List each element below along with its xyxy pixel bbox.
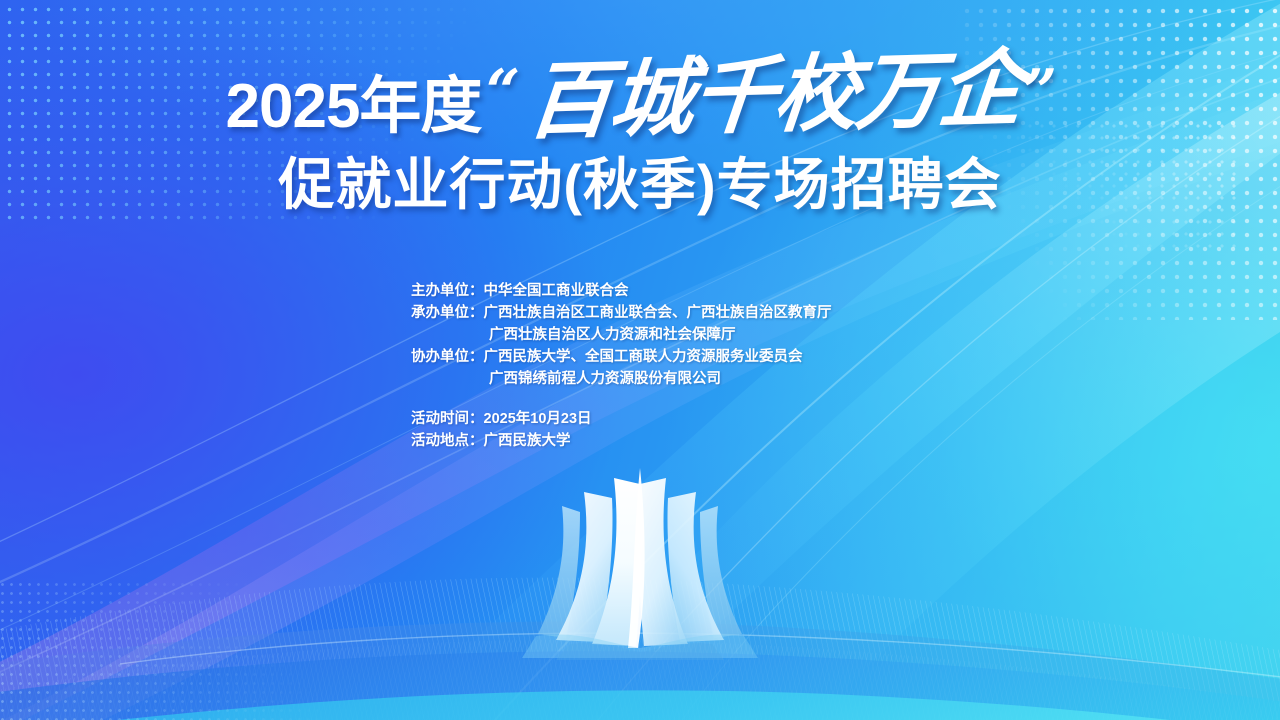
info-row-coorganizer: 协办单位：广西民族大学、全国工商联人力资源服务业委员会 [411,346,832,368]
coorganizer-value-line2: 广西锦绣前程人力资源股份有限公司 [489,371,721,387]
title-brush-phrase: 百城千校万企 [524,48,1025,142]
event-info-block: 主办单位：中华全国工商业联合会 承办单位：广西壮族自治区工商业联合会、广西壮族自… [411,280,832,452]
title-line-primary: 2025年度 “ 百城千校万企 ” [0,62,1280,142]
place-label: 活动地点： [411,433,484,449]
poster-title-block: 2025年度 “ 百城千校万企 ” 促就业行动(秋季)专场招聘会 [0,62,1280,217]
organizer-label: 承办单位： [411,305,484,321]
info-row-organizer: 承办单位：广西壮族自治区工商业联合会、广西壮族自治区教育厅 [411,302,832,324]
coorganizer-value-line1: 广西民族大学、全国工商联人力资源服务业委员会 [484,349,803,365]
title-subtitle: 促就业行动(秋季)专场招聘会 [0,154,1280,217]
host-value: 中华全国工商业联合会 [484,283,629,299]
info-row-host: 主办单位：中华全国工商业联合会 [411,280,832,302]
time-value: 2025年10月23日 [484,411,592,427]
host-label: 主办单位： [411,283,484,299]
info-spacer [411,390,832,408]
time-label: 活动时间： [411,411,484,427]
coorganizer-label: 协办单位： [411,349,484,365]
landmark-monument-icon [510,458,770,668]
place-value: 广西民族大学 [484,433,571,449]
info-row-time: 活动时间：2025年10月23日 [411,408,832,430]
info-row-coorganizer-cont: 广西锦绣前程人力资源股份有限公司 [411,368,832,390]
organizer-value-line2: 广西壮族自治区人力资源和社会保障厅 [489,327,736,343]
organizer-value-line1: 广西壮族自治区工商业联合会、广西壮族自治区教育厅 [484,305,832,321]
title-open-quote: “ [478,62,523,122]
info-row-place: 活动地点：广西民族大学 [411,430,832,452]
info-row-organizer-cont: 广西壮族自治区人力资源和社会保障厅 [411,324,832,346]
title-year-prefix: 2025年度 [226,76,482,142]
recruitment-poster: 2025年度 “ 百城千校万企 ” 促就业行动(秋季)专场招聘会 主办单位：中华… [0,0,1280,720]
